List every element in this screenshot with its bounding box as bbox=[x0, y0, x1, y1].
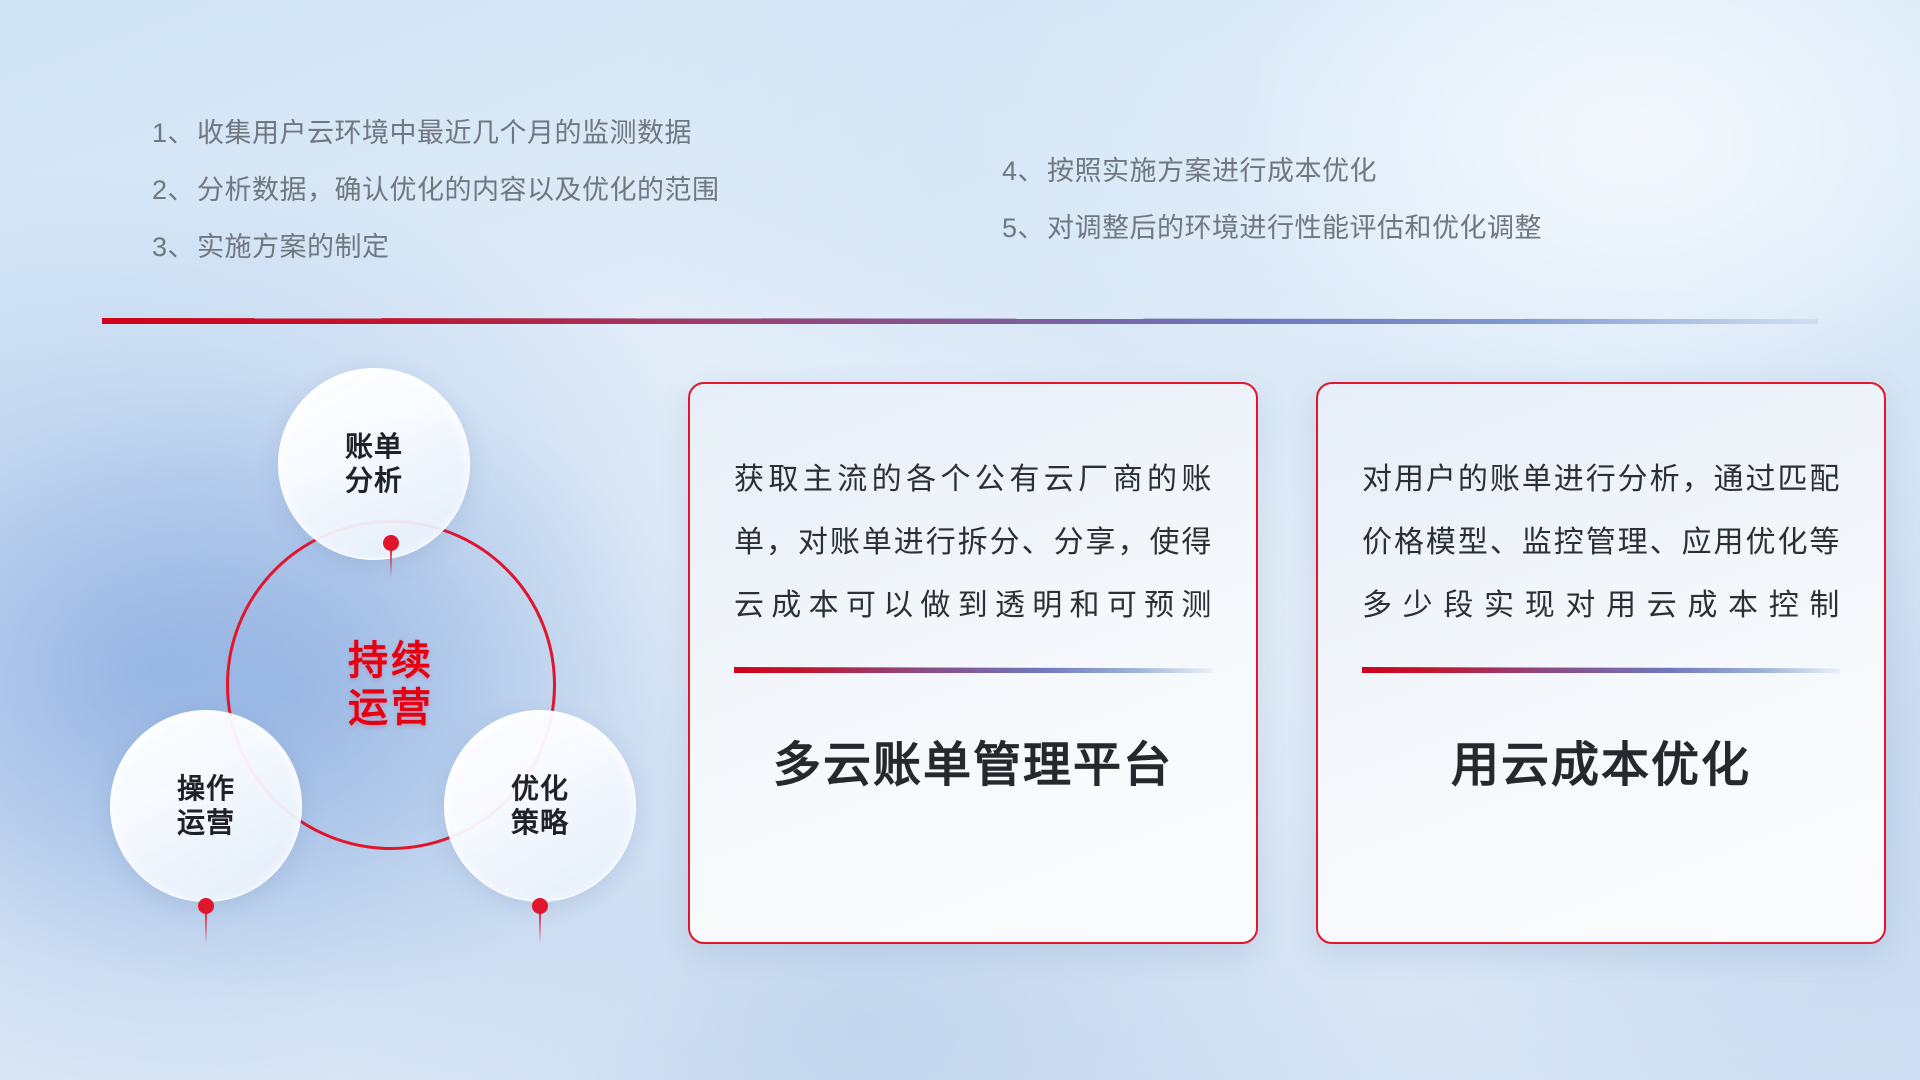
card-body-text: 对用户的账单进行分析，通过匹配价格模型、监控管理、应用优化等多少段实现对用云成本… bbox=[1362, 448, 1840, 637]
step-item: 3、实施方案的制定 bbox=[152, 234, 720, 261]
steps-left-column: 1、收集用户云环境中最近几个月的监测数据 2、分析数据，确认优化的内容以及优化的… bbox=[152, 120, 720, 261]
step-item: 4、按照实施方案进行成本优化 bbox=[1002, 158, 1542, 185]
connector-tick-bottom-left bbox=[205, 910, 207, 944]
step-number: 1、 bbox=[152, 118, 195, 148]
center-label: 持续 运营 bbox=[226, 520, 556, 850]
venn-diagram: 持续 运营 账单 分析 操作 运营 优化 策略 bbox=[92, 350, 652, 940]
center-label-line1: 持续 bbox=[348, 638, 434, 685]
step-text: 按照实施方案进行成本优化 bbox=[1047, 156, 1377, 186]
card-title: 用云成本优化 bbox=[1362, 725, 1840, 795]
step-number: 2、 bbox=[152, 175, 195, 205]
step-text: 分析数据，确认优化的内容以及优化的范围 bbox=[197, 175, 720, 205]
step-text: 收集用户云环境中最近几个月的监测数据 bbox=[197, 118, 692, 148]
step-item: 1、收集用户云环境中最近几个月的监测数据 bbox=[152, 120, 720, 147]
feature-cards: 获取主流的各个公有云厂商的账单，对账单进行拆分、分享，使得云成本可以做到透明和可… bbox=[688, 382, 1886, 944]
center-label-line2: 运营 bbox=[348, 685, 434, 732]
card-accent-rule bbox=[1362, 667, 1840, 673]
step-text: 对调整后的环境进行性能评估和优化调整 bbox=[1047, 213, 1542, 243]
card-title: 多云账单管理平台 bbox=[734, 725, 1212, 795]
node-dot-bottom-right bbox=[532, 898, 548, 914]
step-item: 2、分析数据，确认优化的内容以及优化的范围 bbox=[152, 177, 720, 204]
card-multicloud-billing-platform[interactable]: 获取主流的各个公有云厂商的账单，对账单进行拆分、分享，使得云成本可以做到透明和可… bbox=[688, 382, 1258, 944]
step-text: 实施方案的制定 bbox=[197, 232, 390, 262]
card-body-text: 获取主流的各个公有云厂商的账单，对账单进行拆分、分享，使得云成本可以做到透明和可… bbox=[734, 448, 1212, 637]
slide-canvas: 1、收集用户云环境中最近几个月的监测数据 2、分析数据，确认优化的内容以及优化的… bbox=[0, 0, 1920, 1080]
card-accent-rule bbox=[734, 667, 1212, 673]
section-divider bbox=[102, 318, 1818, 324]
card-cloud-cost-optimization[interactable]: 对用户的账单进行分析，通过匹配价格模型、监控管理、应用优化等多少段实现对用云成本… bbox=[1316, 382, 1886, 944]
bubble-label-line1: 账单 bbox=[345, 430, 403, 464]
step-number: 5、 bbox=[1002, 213, 1045, 243]
steps-right-column: 4、按照实施方案进行成本优化 5、对调整后的环境进行性能评估和优化调整 bbox=[1002, 158, 1542, 242]
bubble-label-line2: 分析 bbox=[345, 464, 403, 498]
step-number: 4、 bbox=[1002, 156, 1045, 186]
step-item: 5、对调整后的环境进行性能评估和优化调整 bbox=[1002, 215, 1542, 242]
connector-tick-bottom-right bbox=[539, 910, 541, 944]
node-dot-bottom-left bbox=[198, 898, 214, 914]
step-number: 3、 bbox=[152, 232, 195, 262]
